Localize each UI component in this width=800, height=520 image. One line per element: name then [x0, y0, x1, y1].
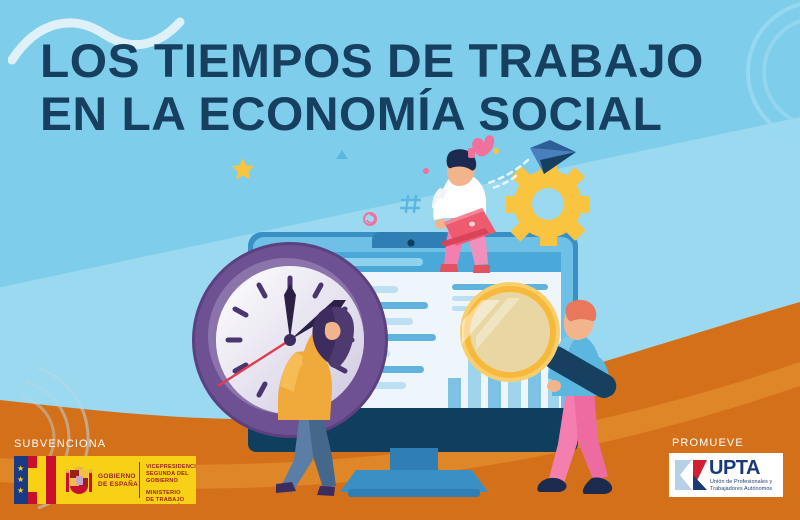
subvenciona-label: SUBVENCIONA [14, 438, 106, 450]
poster-title: LOS TIEMPOS DE TRABAJO EN LA ECONOMÍA SO… [40, 34, 774, 140]
upta-wordmark: UPTA [709, 457, 760, 479]
triangle-icon [336, 150, 348, 159]
upta-mark-icon [674, 459, 710, 491]
eu-star-icon: ★ [17, 487, 25, 495]
gobierno-de-espana-logo: ★ ★ ★ GOBIERNO DE ESPAÑA [14, 456, 196, 504]
poster-canvas: LOS TIEMPOS DE TRABAJO EN LA ECONOMÍA SO… [0, 0, 800, 520]
title-line-2: EN LA ECONOMÍA SOCIAL [40, 87, 774, 140]
spain-flag-red-bottom [28, 492, 37, 504]
gobierno-line-2: DE ESPAÑA [98, 481, 138, 488]
ministerio-line-3: MINISTERIO [146, 490, 196, 497]
upta-tagline-line-2: Trabajadores Autónomos [710, 486, 772, 493]
spain-eu-flag-icon: ★ ★ ★ [14, 456, 56, 504]
star-icon [232, 158, 254, 179]
ministerio-block: VICEPRESIDENCIA SEGUNDA DEL GOBIERNO MIN… [146, 464, 196, 504]
upta-tagline-line-1: Unión de Profesionales y [710, 479, 772, 486]
gear [506, 162, 590, 246]
spain-flag-red-right [46, 456, 56, 504]
upta-logo: UPTA Unión de Profesionales y Trabajador… [669, 453, 783, 497]
eu-star-icon: ★ [17, 476, 25, 484]
eu-star-icon: ★ [17, 465, 25, 473]
spiral-icon [364, 213, 376, 225]
upta-tagline: Unión de Profesionales y Trabajadores Au… [710, 479, 772, 492]
gobierno-name: GOBIERNO DE ESPAÑA [98, 473, 138, 489]
gobierno-line-1: GOBIERNO [98, 473, 136, 480]
ministerio-line-1: VICEPRESIDENCIA [146, 464, 196, 471]
gobierno-divider [139, 462, 140, 498]
spain-flag-yellow [37, 456, 46, 504]
spain-flag-red-top [28, 456, 37, 468]
eu-flag-strip-icon: ★ ★ ★ [14, 456, 28, 504]
spain-coat-of-arms-icon [64, 464, 94, 496]
promueve-label: PROMUEVE [672, 437, 744, 449]
title-line-1: LOS TIEMPOS DE TRABAJO [40, 34, 704, 87]
ministerio-line-4: DE TRABAJO [146, 497, 196, 504]
hashtag-icon [401, 196, 420, 212]
ministerio-line-2: SEGUNDA DEL GOBIERNO [146, 471, 196, 485]
